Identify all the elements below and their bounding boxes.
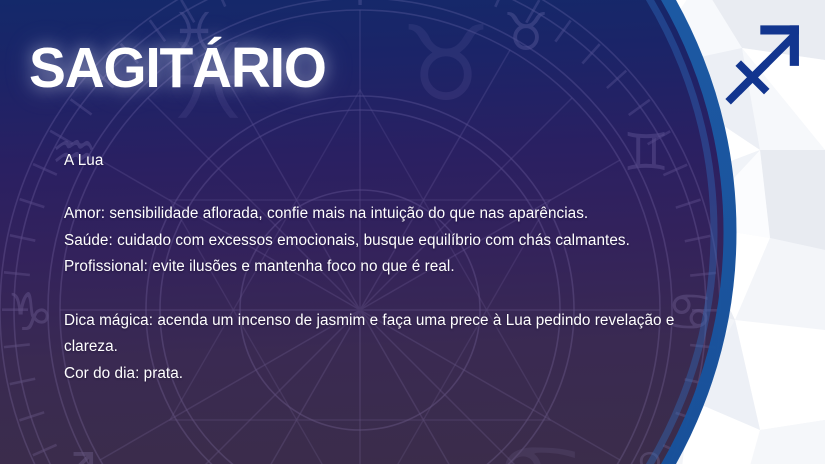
sagittarius-glyph-icon xyxy=(718,18,810,110)
advice-color-day: Cor do dia: prata. xyxy=(64,361,724,388)
svg-text:♑: ♑ xyxy=(7,283,54,343)
spacer xyxy=(64,175,724,202)
subtitle-moon: A Lua xyxy=(64,148,724,175)
forecast-health: Saúde: cuidado com excessos emocionais, … xyxy=(64,228,724,255)
svg-text:♌: ♌ xyxy=(623,443,670,464)
svg-text:♉: ♉ xyxy=(503,3,550,63)
svg-text:♋: ♋ xyxy=(493,421,586,464)
horoscope-body: A Lua Amor: sensibilidade aflorada, conf… xyxy=(64,148,724,387)
svg-text:♐: ♐ xyxy=(51,443,98,464)
spacer xyxy=(64,281,724,308)
svg-text:♉: ♉ xyxy=(399,3,492,125)
forecast-love: Amor: sensibilidade aflorada, confie mai… xyxy=(64,201,724,228)
forecast-professional: Profissional: evite ilusões e mantenha f… xyxy=(64,254,724,281)
svg-text:♈: ♈ xyxy=(337,0,384,18)
advice-magic-tip: Dica mágica: acenda um incenso de jasmim… xyxy=(64,308,724,361)
page-title: SAGITÁRIO xyxy=(29,37,326,99)
horoscope-card: ♈ ♉ ♊ ♋ ♌ ♍ ♎ ♏ ♐ ♑ ♒ ♓ ♓ ♉ ♋ xyxy=(0,0,825,464)
